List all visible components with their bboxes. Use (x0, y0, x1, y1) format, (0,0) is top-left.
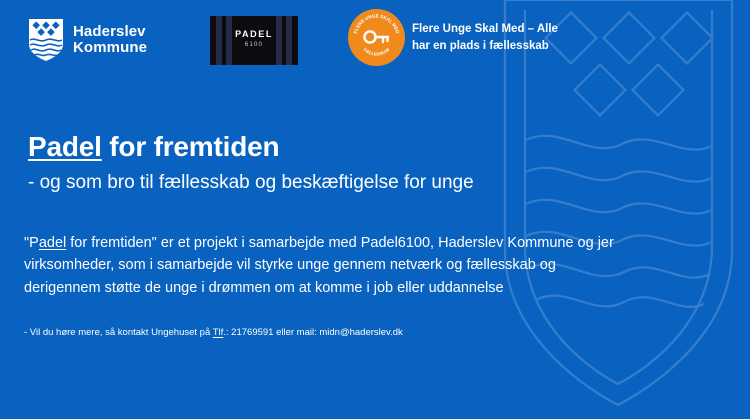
flere-unge-skal-med-badge: FLERE UNGE SKAL MED FÆLLESSKAB (350, 11, 403, 64)
haderslev-coat-of-arms-icon (28, 18, 64, 62)
haderslev-kommune-logo: Haderslev Kommune (28, 18, 147, 62)
body-post: for fremtiden" er et projekt i samarbejd… (24, 235, 614, 296)
body-pre: "P (24, 235, 39, 251)
body-underlined: adel (39, 235, 66, 251)
page-title: Padel for fremtiden (28, 131, 279, 163)
padel-logo-sub: 6100 (210, 42, 298, 48)
svg-text:FÆLLESSKAB: FÆLLESSKAB (363, 47, 391, 57)
page-title-underlined: Padel (28, 131, 102, 162)
padel-logo-label: PADEL (210, 29, 298, 39)
logo-wordmark: Haderslev Kommune (73, 24, 147, 56)
slogan-line-2: har en plads i fællesskab (412, 38, 612, 55)
page-title-rest: for fremtiden (102, 131, 280, 162)
logo-line-1: Haderslev (73, 24, 147, 40)
contact-line: - Vil du høre mere, så kontakt Ungehuset… (24, 326, 624, 340)
contact-post: .: 21769591 eller mail: midn@haderslev.d… (223, 327, 403, 338)
padel6100-logo: PADEL 6100 (210, 16, 298, 65)
page-subtitle: - og som bro til fællesskab og beskæftig… (28, 172, 474, 194)
logo-line-2: Kommune (73, 40, 147, 56)
contact-underlined: Tlf (213, 327, 224, 338)
slogan-line-1: Flere Unge Skal Med – Alle (412, 21, 612, 38)
key-icon (363, 26, 390, 48)
header-bar: Haderslev Kommune PADEL 6100 FLERE (0, 0, 750, 82)
contact-pre: - Vil du høre mere, så kontakt Ungehuset… (24, 327, 213, 338)
badge-slogan: Flere Unge Skal Med – Alle har en plads … (412, 21, 612, 56)
padel-logo-stripes (210, 16, 298, 65)
slide-canvas: Haderslev Kommune PADEL 6100 FLERE (0, 0, 750, 419)
body-paragraph: "Padel for fremtiden" er et projekt i sa… (24, 232, 634, 299)
